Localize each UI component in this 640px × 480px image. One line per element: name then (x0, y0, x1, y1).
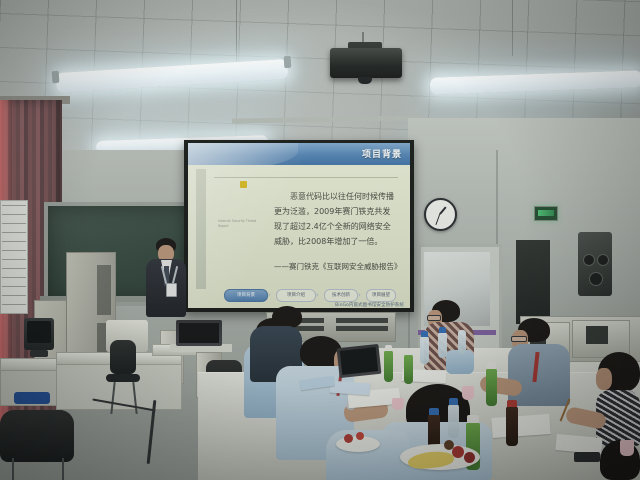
fruit (356, 432, 364, 440)
green-tea-bottle[interactable] (384, 350, 393, 382)
light-hanger (236, 0, 237, 66)
slide-sidebar-strip (196, 169, 206, 289)
projection-screen[interactable]: 项目背景 Internet Security Threat Report 恶意代… (188, 143, 410, 308)
slide-nav-item-3[interactable]: 项目展望 (366, 289, 396, 302)
bottle-cap (429, 408, 439, 415)
mobile-phone[interactable] (574, 452, 600, 462)
laptop-screen (340, 347, 378, 375)
presenter-laptop (176, 320, 222, 346)
office-chair (0, 410, 74, 462)
presenter-badge (166, 283, 177, 297)
crt-monitor (24, 318, 54, 350)
slide-rule (214, 177, 398, 178)
shelf-slot (336, 326, 388, 331)
chair-leg (62, 458, 64, 480)
glasses-icon (511, 336, 527, 342)
projector (330, 48, 402, 78)
bottle-cap (507, 400, 517, 407)
light-end-cap (284, 56, 292, 68)
light-hanger (512, 0, 513, 56)
water-bottle[interactable] (458, 330, 466, 354)
speaker-cone (589, 272, 603, 286)
slide-logo-icon (240, 181, 247, 188)
water-bottle[interactable] (438, 332, 447, 358)
attendee-face (596, 368, 612, 390)
water-bottle[interactable] (448, 404, 459, 438)
fruit (464, 452, 475, 463)
glasses-icon (427, 315, 441, 321)
pink-cup[interactable] (620, 440, 634, 456)
slide-citation: ——赛门铁克《互联网安全威胁报告》 (274, 261, 398, 272)
water-bottle[interactable] (420, 336, 429, 364)
chevron-right-icon: › (268, 291, 271, 299)
chair-leg (12, 458, 14, 480)
green-tea-bottle[interactable] (486, 368, 497, 406)
paper-stack[interactable] (491, 414, 550, 438)
slide-header-bar: 项目背景 (188, 143, 410, 165)
blue-folder (14, 392, 50, 404)
slide-nav: 项目背景 › 项目介绍 › 技术创新 › 项目展望 (224, 289, 392, 300)
attendee-hair (272, 306, 302, 328)
speaker-cone (583, 254, 595, 266)
crt-monitor-base (30, 350, 48, 357)
slide-body: Internet Security Threat Report 恶意代码比以往任… (188, 165, 410, 308)
office-chair-seat (106, 374, 140, 382)
chevron-right-icon: › (358, 291, 361, 299)
fruit (452, 446, 464, 458)
laptop[interactable] (337, 344, 382, 378)
slide-title: 项目背景 (362, 147, 402, 160)
crt-screen (27, 321, 51, 343)
slide-nav-item-2[interactable]: 技术创新 (324, 289, 358, 302)
slide-nav-item-0[interactable]: 项目背景 (224, 289, 268, 302)
speaker-cone (597, 254, 609, 266)
bottle-cap (385, 345, 392, 351)
pink-cup[interactable] (392, 398, 404, 410)
slide-footer-text: BinGo内嵌式图书馆安全防护系统 (335, 302, 404, 308)
wall-poster (0, 200, 28, 314)
cola-bottle[interactable] (506, 406, 518, 446)
instrument-display (586, 326, 608, 344)
pink-cup[interactable] (462, 386, 474, 400)
wall-clock (424, 198, 457, 231)
exit-sign (534, 206, 558, 221)
bottle-cap (467, 415, 479, 423)
slide-sidebar-text: Internet Security Threat Report (218, 219, 262, 229)
bottle-cap (487, 362, 496, 369)
chevron-right-icon: › (316, 291, 319, 299)
doorway-opening (516, 240, 550, 324)
green-tea-bottle[interactable] (404, 354, 413, 384)
bottle-cap (439, 327, 446, 333)
slide-paragraph: 恶意代码比以往任何时候传播更为泛滥，2009年赛门铁克共发现了超过2.4亿个全新… (274, 189, 398, 249)
slide-nav-item-1[interactable]: 项目介绍 (276, 289, 316, 302)
rack-slot (97, 265, 111, 315)
laptop-screen (179, 323, 219, 343)
bottle-cap (405, 349, 412, 355)
bottle-cap (421, 331, 428, 337)
light-end-cap (52, 71, 60, 83)
clock-minute-hand (435, 213, 440, 225)
bottle-cap (449, 398, 458, 405)
photo-scene: 项目背景 Internet Security Threat Report 恶意代… (0, 0, 640, 480)
office-chair (110, 340, 136, 374)
fruit (344, 434, 353, 443)
wall-speaker (578, 232, 612, 296)
fruit (444, 440, 454, 450)
shelf-slot (336, 318, 388, 323)
poster-rows (2, 205, 26, 309)
